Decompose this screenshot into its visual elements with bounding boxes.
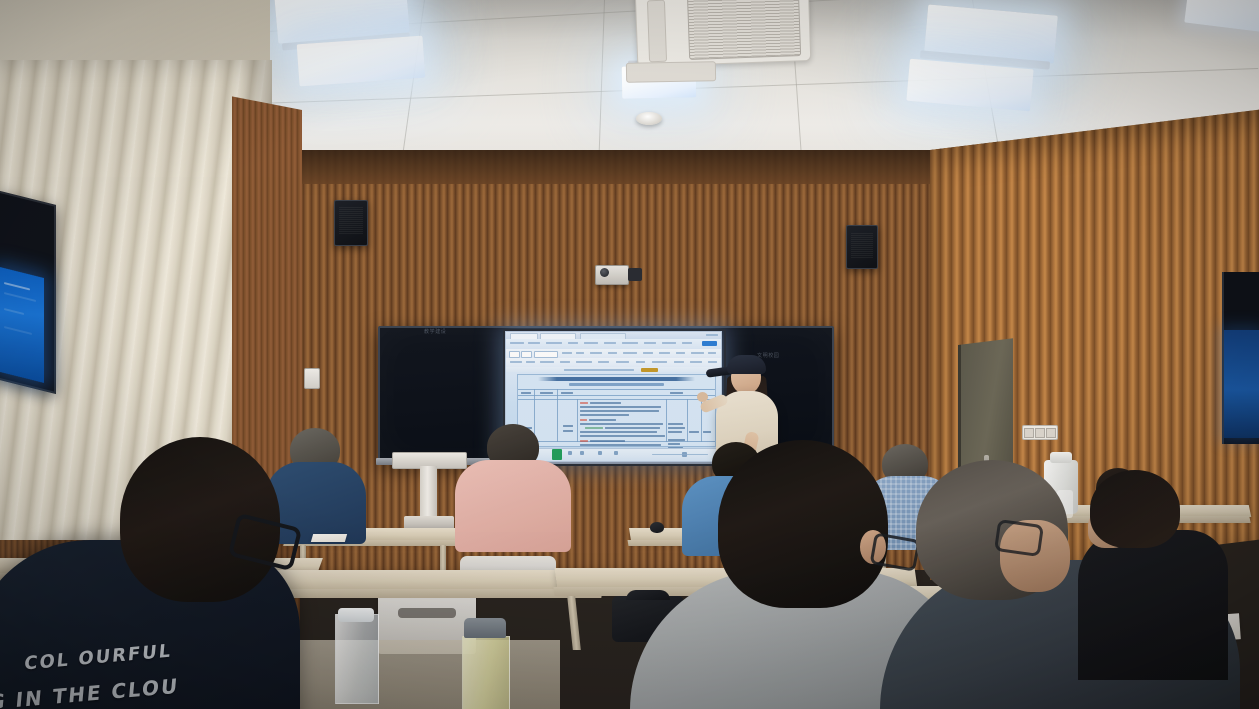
led-panel-left-second <box>297 36 426 87</box>
power-outlet[interactable] <box>1022 425 1058 440</box>
shaker-bottle-yellow-cap[interactable] <box>464 618 506 638</box>
wall-tv-left-screen <box>0 267 44 383</box>
socket-2 <box>1035 428 1045 438</box>
camera-mount-box <box>628 268 642 281</box>
desk-leg-front-1 <box>567 596 581 650</box>
ac-grille <box>687 0 801 60</box>
presenter-pointing-hand <box>697 392 708 402</box>
shaker-bottle-clear-cap[interactable] <box>338 608 374 622</box>
ac-supply-vent <box>626 61 716 83</box>
camera-lens-icon <box>600 268 609 277</box>
attendee-black-top-woman-head <box>1090 470 1180 548</box>
ac-vent-slot <box>647 0 667 62</box>
blackboard-label-left: 教学建设 <box>424 328 446 335</box>
desk-front-center-edge <box>257 589 602 598</box>
eyeglasses-dark-polo <box>994 519 1044 557</box>
computer-mouse[interactable] <box>650 522 664 533</box>
socket-3 <box>1046 428 1056 438</box>
thermos-cap[interactable] <box>1050 452 1072 463</box>
classroom-photo: 教学建设 文明校园 <box>0 0 1259 709</box>
lectern-column <box>420 466 437 518</box>
wall-speaker-right <box>846 225 878 269</box>
presenter-cap <box>727 355 766 374</box>
bag-strap <box>626 590 670 600</box>
wall-speaker-left <box>334 200 368 246</box>
socket-1 <box>1024 428 1034 438</box>
notebook-paper-back <box>311 534 347 542</box>
attendee-black-top-woman-body <box>1078 530 1228 680</box>
smoke-detector <box>636 112 662 125</box>
shaker-bottle-clear[interactable] <box>335 614 379 704</box>
wall-tv-right-screen <box>1224 330 1259 438</box>
attendee-grey-tshirt-foreground-head <box>718 440 888 608</box>
back-wall-header <box>248 150 948 184</box>
shaker-bottle-yellow[interactable] <box>462 636 510 709</box>
desk-front-center <box>260 570 603 590</box>
wall-control-panel[interactable] <box>304 368 320 389</box>
chair-front-left-slot <box>398 608 456 618</box>
attendee-pink-shirt-body <box>455 460 571 552</box>
